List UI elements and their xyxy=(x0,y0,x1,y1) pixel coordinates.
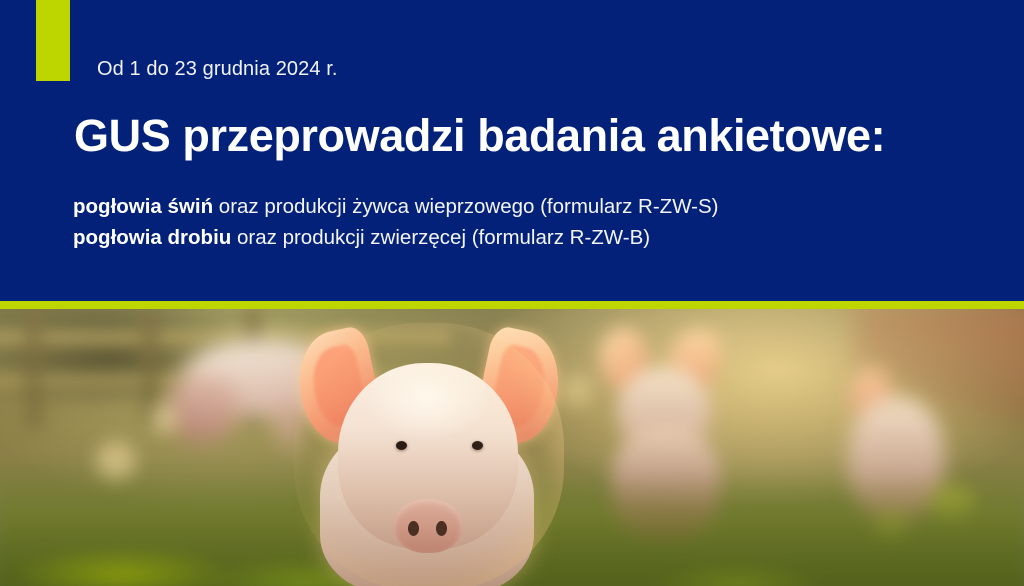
info-panel: Od 1 do 23 grudnia 2024 r. GUS przeprowa… xyxy=(0,0,1024,301)
gus-survey-banner: Od 1 do 23 grudnia 2024 r. GUS przeprowa… xyxy=(0,0,1024,586)
photo-scene xyxy=(0,309,1024,586)
lime-divider-strip xyxy=(0,301,1024,309)
foreground-pig-eye-right xyxy=(472,441,483,450)
bokeh-highlight xyxy=(560,373,594,407)
foreground-pig-nostril-left xyxy=(408,521,419,536)
survey-line-poultry: pogłowia drobiu oraz produkcji zwierzęce… xyxy=(73,224,650,252)
survey-line-swine-detail: oraz produkcji żywca wieprzowego (formul… xyxy=(213,195,718,218)
foreground-pig-snout xyxy=(394,499,462,553)
survey-line-poultry-detail: oraz produkcji zwierzęcej (formularz R-Z… xyxy=(231,226,650,249)
foreground-pig xyxy=(294,323,564,586)
bokeh-highlight xyxy=(150,405,178,433)
survey-date-range: Od 1 do 23 grudnia 2024 r. xyxy=(97,56,338,82)
survey-line-poultry-label: pogłowia drobiu xyxy=(73,226,231,249)
survey-line-swine-label: pogłowia świń xyxy=(73,195,213,218)
foreground-pig-nostril-right xyxy=(436,521,447,536)
fence-post-1 xyxy=(24,309,44,429)
foreground-pig-eye-left xyxy=(396,441,407,450)
page-title: GUS przeprowadzi badania ankietowe: xyxy=(74,108,885,164)
survey-line-swine: pogłowia świń oraz produkcji żywca wiepr… xyxy=(73,193,719,221)
lime-accent-bar xyxy=(36,0,70,81)
pig-photograph xyxy=(0,309,1024,586)
background-pig-left-head xyxy=(168,373,240,443)
